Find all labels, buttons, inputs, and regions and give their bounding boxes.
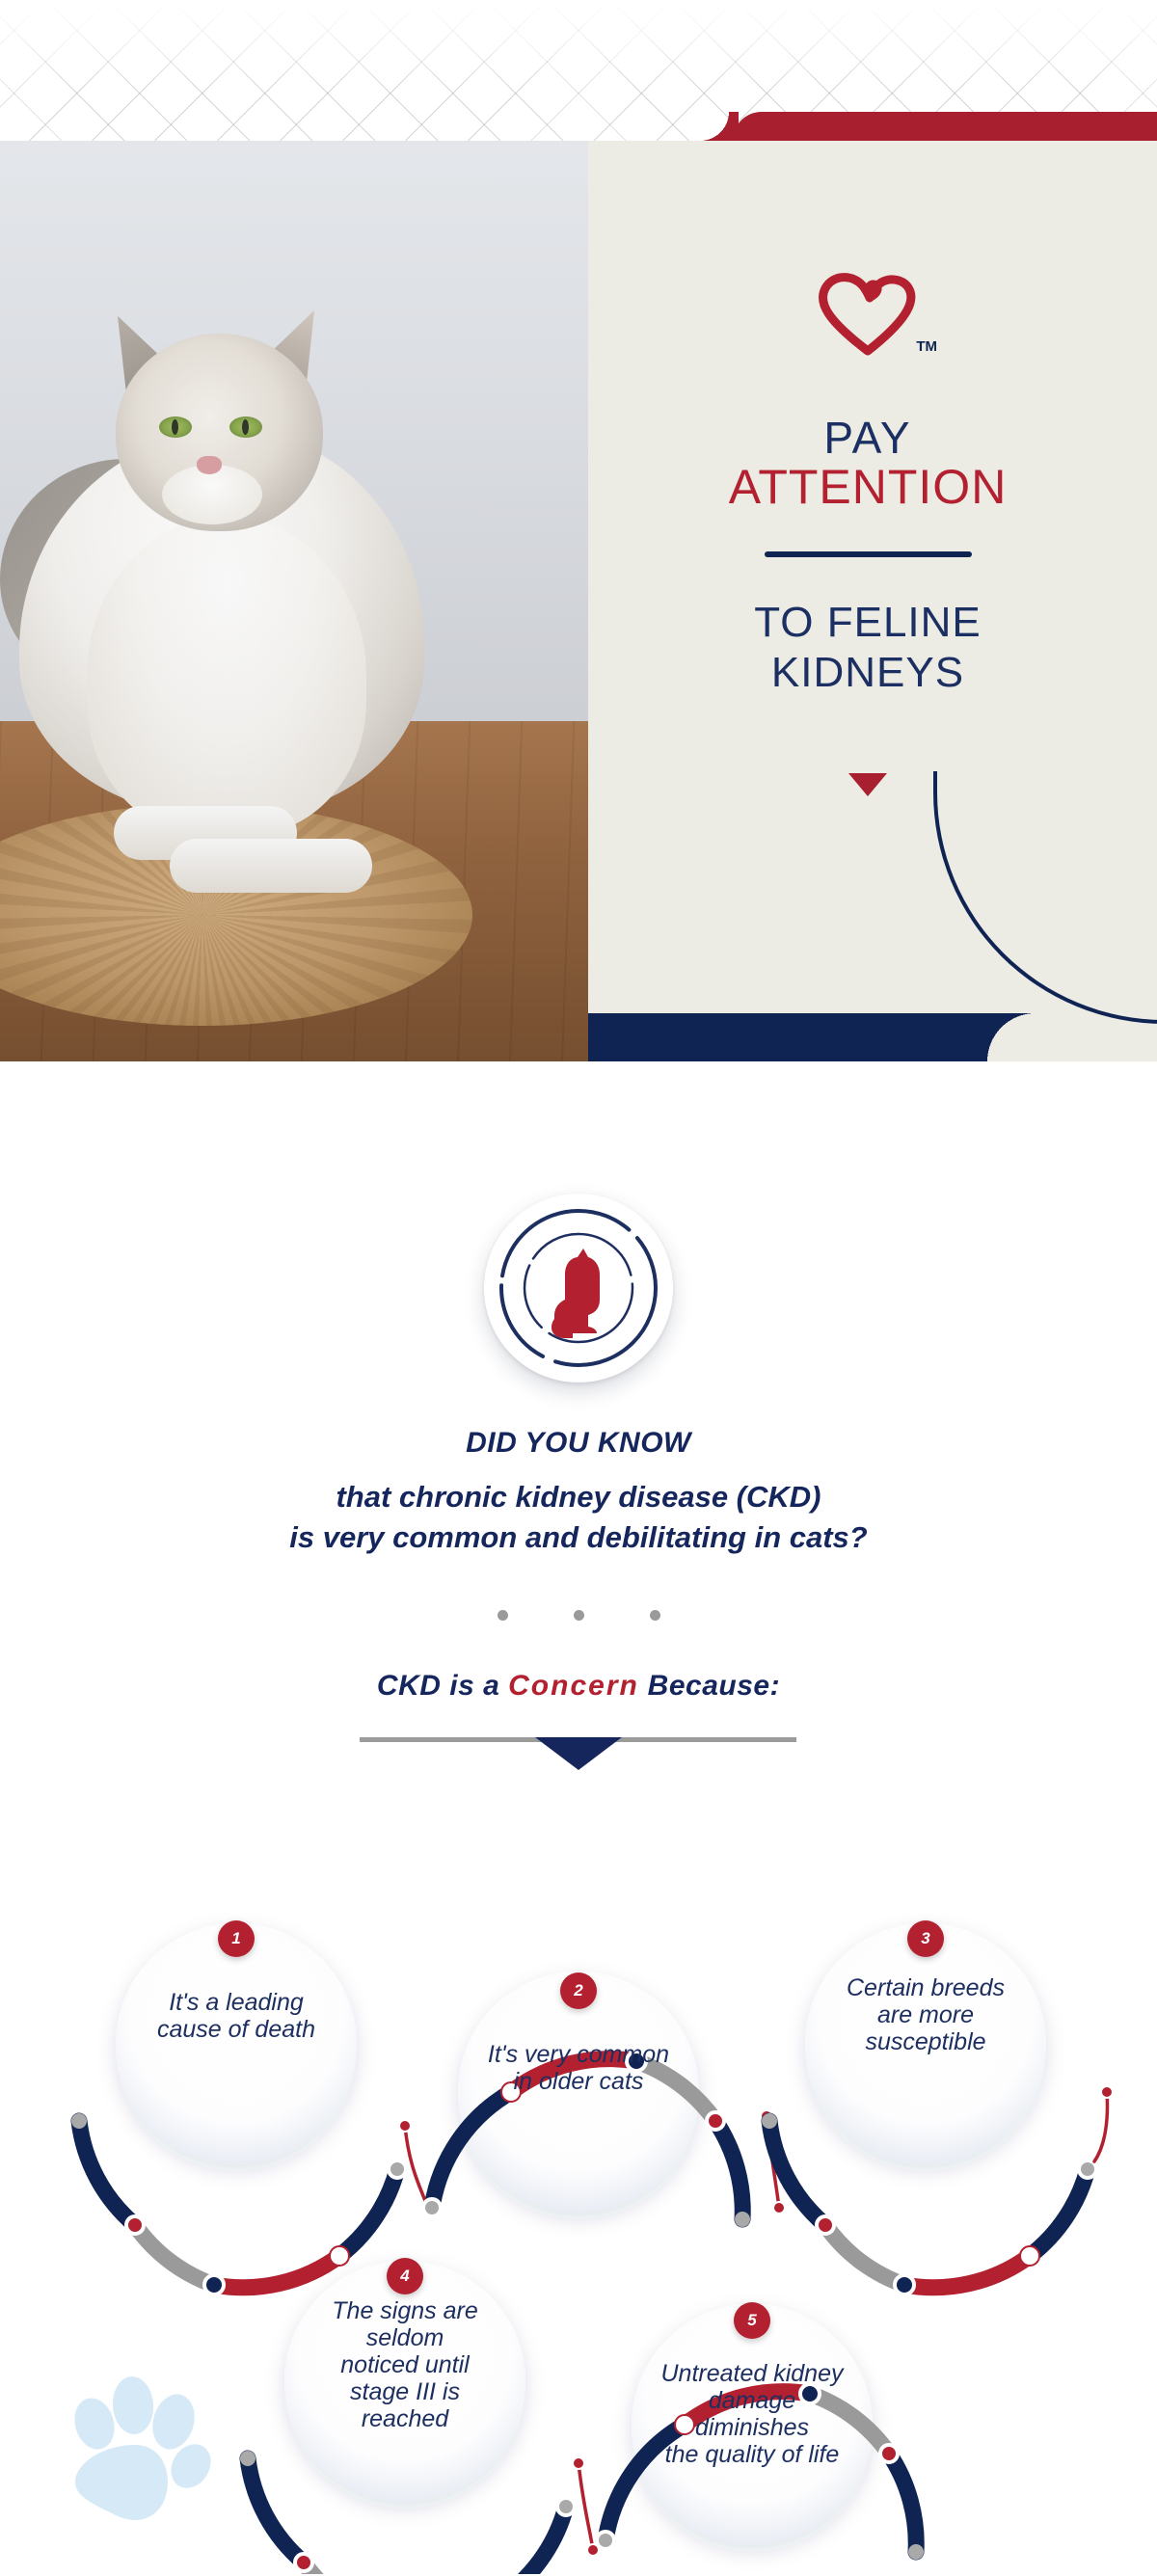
reason-4-line2: seldom xyxy=(366,2324,444,2351)
reason-number-2: 2 xyxy=(560,1972,597,2009)
heart-logo-icon xyxy=(810,266,926,359)
page-title: PAY ATTENTION xyxy=(729,415,1008,513)
concern-arrow-icon xyxy=(535,1737,622,1770)
reason-3-line1: Certain breeds xyxy=(847,1974,1005,2001)
paw-print-glyph xyxy=(60,2362,224,2526)
reason-text-3: Certain breeds are more susceptible xyxy=(795,1974,1056,2055)
content-section: DID YOU KNOW that chronic kidney disease… xyxy=(0,1070,1157,2576)
reason-2-line2: in older cats xyxy=(514,2068,644,2095)
did-you-know-line1: that chronic kidney disease (CKD) xyxy=(336,1480,821,1514)
concern-pre: CKD is a xyxy=(377,1670,508,1702)
did-you-know-text: that chronic kidney disease (CKD) is ver… xyxy=(0,1477,1157,1558)
reason-1-line2: cause of death xyxy=(157,2016,315,2043)
reason-number-1: 1 xyxy=(218,1920,255,1957)
concern-emphasis: Concern xyxy=(508,1670,639,1702)
title-divider xyxy=(765,551,972,557)
concern-post: Because: xyxy=(639,1670,780,1702)
did-you-know-heading: DID YOU KNOW xyxy=(0,1427,1157,1460)
page-subtitle: TO FELINE KIDNEYS xyxy=(754,598,982,698)
reason-number-3: 3 xyxy=(907,1920,944,1957)
connector-4-5 xyxy=(578,2463,593,2550)
reason-3-line3: susceptible xyxy=(865,2028,985,2055)
reason-4-line5: reached xyxy=(362,2405,448,2432)
cat-photo xyxy=(0,141,588,1061)
hero-section: TM PAY ATTENTION TO FELINE KIDNEYS xyxy=(0,0,1157,1070)
reason-4-line3: noticed until xyxy=(340,2351,469,2378)
reason-5-line3: diminishes xyxy=(695,2414,809,2441)
separator-dot xyxy=(498,1610,508,1621)
reason-5-line1: Untreated kidney xyxy=(660,2360,843,2387)
separator-dot xyxy=(650,1610,660,1621)
reason-number-5: 5 xyxy=(734,2302,770,2339)
photo-overlay xyxy=(0,141,588,1061)
hero-content-panel: TM PAY ATTENTION TO FELINE KIDNEYS xyxy=(578,141,1157,1061)
reason-text-5: Untreated kidney damage diminishes the q… xyxy=(622,2360,882,2468)
reason-1-line1: It's a leading xyxy=(169,1989,304,2016)
red-accent-bar xyxy=(733,112,1157,141)
reason-4-line1: The signs are xyxy=(332,2297,477,2324)
scroll-down-icon[interactable] xyxy=(848,773,887,796)
reason-2-line1: It's very common xyxy=(488,2041,669,2068)
reason-disc-1 xyxy=(116,1923,357,2164)
separator-dot xyxy=(574,1610,584,1621)
reason-text-4: The signs are seldom noticed until stage… xyxy=(275,2297,535,2432)
cat-badge xyxy=(484,1194,673,1382)
reason-text-1: It's a leading cause of death xyxy=(106,1989,366,2043)
sitting-cat-icon xyxy=(484,1194,673,1382)
concern-heading: CKD is a Concern Because: xyxy=(0,1670,1157,1703)
heart-logo: TM xyxy=(810,266,926,359)
reason-3-line2: are more xyxy=(877,2001,974,2028)
paw-print-icon xyxy=(60,2362,224,2526)
page-title-line1: PAY xyxy=(823,413,911,463)
reason-5-line2: damage xyxy=(709,2387,795,2414)
dot-separator xyxy=(0,1610,1157,1621)
reason-5-line4: the quality of life xyxy=(665,2441,840,2468)
reason-4-line4: stage III is xyxy=(350,2378,460,2405)
did-you-know-line2: is very common and debilitating in cats? xyxy=(289,1520,867,1554)
reason-number-4: 4 xyxy=(387,2258,423,2294)
page-title-line2: ATTENTION xyxy=(729,462,1008,513)
page-subtitle-line2: KIDNEYS xyxy=(771,649,964,696)
page-subtitle-line1: TO FELINE xyxy=(754,599,982,646)
trademark-label: TM xyxy=(916,338,937,355)
connector-3-tail xyxy=(1094,2092,1107,2161)
reason-text-2: It's very common in older cats xyxy=(448,2041,709,2095)
